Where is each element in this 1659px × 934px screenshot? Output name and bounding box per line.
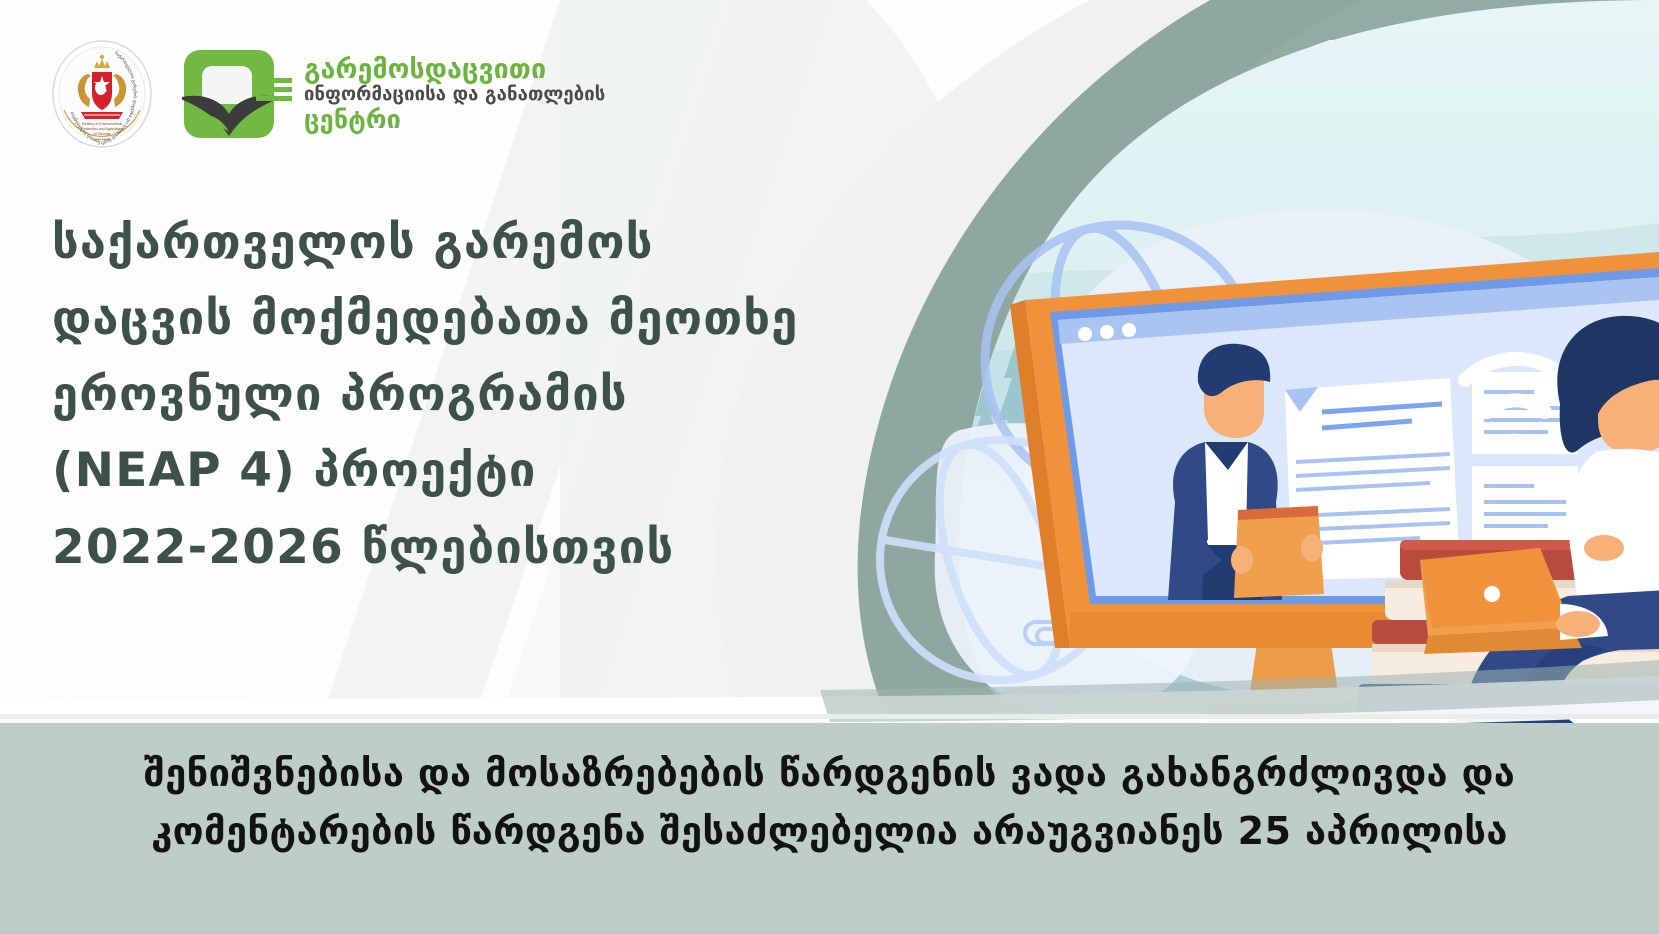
center-logo-line-2: ინფორმაციისა და განათლების bbox=[304, 86, 605, 105]
banner-text: შენიშვნებისა და მოსაზრებების წარდგენის ვ… bbox=[0, 745, 1659, 861]
banner-footer-strip bbox=[0, 908, 1659, 934]
ministry-seal-logo: Ministry of Environmental Protection and… bbox=[48, 38, 156, 150]
seal-latin-2: Protection and Agriculture bbox=[81, 127, 122, 131]
announcement-banner: შენიშვნებისა და მოსაზრებების წარდგენის ვ… bbox=[0, 689, 1659, 934]
headline-line-4: (NEAP 4) პროექტი bbox=[52, 433, 799, 509]
center-logo-mark bbox=[182, 40, 294, 148]
banner-line-2: კომენტარების წარდგენა შესაძლებელია არაუგ… bbox=[0, 803, 1659, 861]
headline-line-1: საქართველოს გარემოს bbox=[52, 205, 799, 281]
poster-canvas: Ministry of Environmental Protection and… bbox=[0, 0, 1659, 934]
poster-headline: საქართველოს გარემოს დაცვის მოქმედებათა მ… bbox=[52, 205, 799, 586]
headline-line-5: 2022-2026 წლებისთვის bbox=[52, 510, 799, 586]
headline-line-2: დაცვის მოქმედებათა მეოთხე bbox=[52, 281, 799, 357]
seal-latin-1: Ministry of Environmental bbox=[82, 122, 123, 126]
environmental-information-center-logo: გარემოსდაცვითი ინფორმაციისა და განათლები… bbox=[182, 40, 605, 148]
center-logo-line-1: გარემოსდაცვითი bbox=[304, 57, 605, 84]
seal-latin-3: of Georgia bbox=[94, 132, 111, 136]
logo-row: Ministry of Environmental Protection and… bbox=[48, 38, 605, 150]
banner-divider-top bbox=[0, 714, 1659, 719]
headline-line-3: ეროვნული პროგრამის bbox=[52, 357, 799, 433]
banner-line-1: შენიშვნებისა და მოსაზრებების წარდგენის ვ… bbox=[0, 745, 1659, 803]
center-logo-line-3: ცენტრი bbox=[304, 107, 605, 132]
